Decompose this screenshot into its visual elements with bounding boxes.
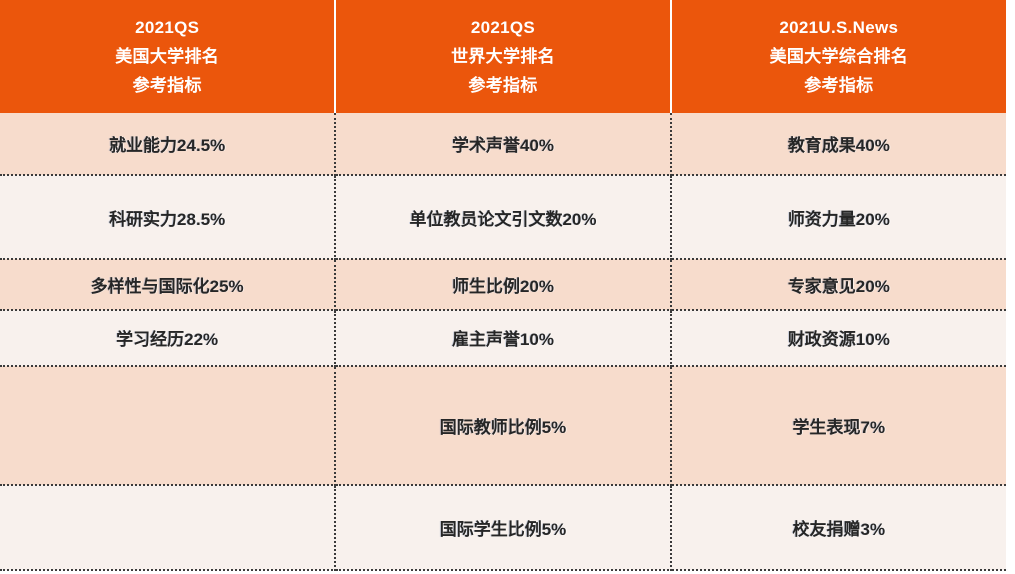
- column-header-line-2: 美国大学综合排名: [672, 42, 1006, 71]
- column-header-line-1: 2021U.S.News: [672, 13, 1006, 42]
- indicator-text: 多样性与国际化25%: [91, 272, 244, 297]
- column-header-line-2: 美国大学排名: [0, 42, 334, 71]
- indicator-text: 科研实力28.5%: [109, 205, 225, 230]
- table-header: 2021QS 美国大学排名 参考指标 2021QS 世界大学排名 参考指标 20…: [0, 0, 1006, 113]
- column-header-line-2: 世界大学排名: [336, 42, 669, 71]
- indicator-cell-usnews-us: 专家意见20%: [671, 259, 1006, 310]
- column-header-line-3: 参考指标: [672, 71, 1006, 100]
- table-row: 就业能力24.5% 学术声誉40% 教育成果40%: [0, 113, 1006, 175]
- indicator-text: 雇主声誉10%: [452, 325, 554, 350]
- indicator-cell-usnews-us: 教育成果40%: [671, 113, 1006, 175]
- indicator-text: 就业能力24.5%: [109, 131, 225, 156]
- indicator-cell-usnews-us: 校友捐赠3%: [671, 485, 1006, 570]
- column-header-qs-world: 2021QS 世界大学排名 参考指标: [335, 0, 670, 113]
- indicator-text: 国际学生比例5%: [440, 515, 567, 540]
- indicator-cell-qs-world: 国际教师比例5%: [335, 366, 670, 485]
- table-row: 科研实力28.5% 单位教员论文引文数20% 师资力量20%: [0, 175, 1006, 259]
- indicator-cell-qs-us: 科研实力28.5%: [0, 175, 335, 259]
- table-header-row: 2021QS 美国大学排名 参考指标 2021QS 世界大学排名 参考指标 20…: [0, 0, 1006, 113]
- indicator-text: 财政资源10%: [788, 325, 890, 350]
- ranking-indicators-table: 2021QS 美国大学排名 参考指标 2021QS 世界大学排名 参考指标 20…: [0, 0, 1006, 571]
- indicator-text: 专家意见20%: [788, 272, 890, 297]
- indicator-cell-qs-us: 就业能力24.5%: [0, 113, 335, 175]
- indicator-cell-qs-us: 多样性与国际化25%: [0, 259, 335, 310]
- table-row: 国际学生比例5% 校友捐赠3%: [0, 485, 1006, 570]
- indicator-cell-usnews-us: 师资力量20%: [671, 175, 1006, 259]
- indicator-cell-qs-world: 师生比例20%: [335, 259, 670, 310]
- table-body: 就业能力24.5% 学术声誉40% 教育成果40% 科研实力28.5% 单位教员…: [0, 113, 1006, 570]
- column-header-line-1: 2021QS: [336, 13, 669, 42]
- column-header-usnews-us: 2021U.S.News 美国大学综合排名 参考指标: [671, 0, 1006, 113]
- indicator-cell-qs-world: 国际学生比例5%: [335, 485, 670, 570]
- indicator-cell-qs-world: 单位教员论文引文数20%: [335, 175, 670, 259]
- indicator-cell-qs-world: 雇主声誉10%: [335, 310, 670, 365]
- table-row: 多样性与国际化25% 师生比例20% 专家意见20%: [0, 259, 1006, 310]
- column-header-line-3: 参考指标: [336, 71, 669, 100]
- indicator-text: 师资力量20%: [788, 205, 890, 230]
- indicator-cell-qs-us-empty: [0, 485, 335, 570]
- indicator-text: 单位教员论文引文数20%: [409, 205, 596, 230]
- table-row: 国际教师比例5% 学生表现7%: [0, 366, 1006, 485]
- indicator-text: 学习经历22%: [116, 325, 218, 350]
- indicator-text: 国际教师比例5%: [440, 413, 567, 438]
- indicator-text: 学生表现7%: [793, 413, 886, 438]
- indicator-text: 学术声誉40%: [452, 131, 554, 156]
- indicator-text: 师生比例20%: [452, 272, 554, 297]
- indicator-text: 教育成果40%: [788, 131, 890, 156]
- indicator-cell-usnews-us: 财政资源10%: [671, 310, 1006, 365]
- column-header-qs-us: 2021QS 美国大学排名 参考指标: [0, 0, 335, 113]
- indicator-cell-qs-us-empty: [0, 366, 335, 485]
- indicator-cell-qs-us: 学习经历22%: [0, 310, 335, 365]
- table-row: 学习经历22% 雇主声誉10% 财政资源10%: [0, 310, 1006, 365]
- indicator-cell-qs-world: 学术声誉40%: [335, 113, 670, 175]
- column-header-line-3: 参考指标: [0, 71, 334, 100]
- column-header-line-1: 2021QS: [0, 13, 334, 42]
- indicator-cell-usnews-us: 学生表现7%: [671, 366, 1006, 485]
- indicator-text: 校友捐赠3%: [793, 515, 886, 540]
